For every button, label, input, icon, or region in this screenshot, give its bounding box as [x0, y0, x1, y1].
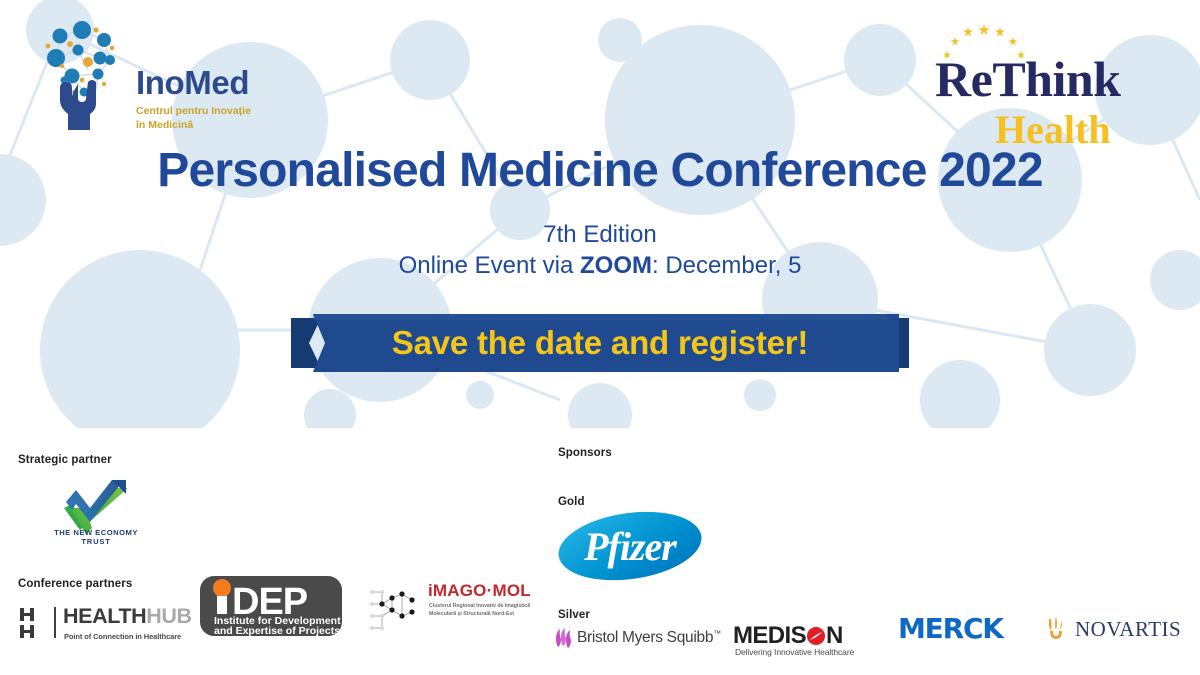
imago-mol-subtitle: Clusterul Regional Inovativ de Imagistic… [429, 603, 543, 619]
molecule-icon [368, 582, 426, 638]
inomed-wordmark: InoMed Centrul pentru Inovație în Medici… [136, 66, 311, 132]
medison-wordmark: MEDIS N [733, 622, 843, 650]
inomed-name: InoMed [136, 66, 311, 99]
novartis-logo: NOVARTIS [1043, 614, 1188, 644]
idep-logo: DEP Institute for Development and Expert… [198, 566, 346, 642]
hero-section: InoMed Centrul pentru Inovație în Medici… [0, 0, 1200, 428]
healthhub-wordmark: HEALTHHUB [63, 606, 192, 628]
pfizer-logo: Pfizer [556, 510, 704, 582]
healthhub-logo: HEALTHHUB Point of Connection in Healthc… [18, 604, 193, 646]
conference-partners-label: Conference partners [18, 578, 132, 590]
conference-poster: InoMed Centrul pentru Inovație în Medici… [0, 0, 1200, 675]
medison-logo: MEDIS N Delivering Innovative Healthcare [733, 622, 883, 660]
merck-logo: MERCK [898, 612, 1016, 642]
bms-flame-icon [553, 627, 575, 651]
merck-wordmark: MERCK [898, 612, 1016, 645]
inomed-tagline: Centrul pentru Inovație în Medicină [136, 104, 311, 132]
medison-o-icon [806, 626, 826, 646]
save-the-date-banner[interactable]: Save the date and register! [291, 312, 909, 374]
net-name-line1: THE NEW ECONOMY [30, 528, 162, 537]
novartis-flame-icon [1043, 615, 1069, 641]
medison-tagline: Delivering Innovative Healthcare [735, 647, 854, 657]
platform-name: ZOOM [580, 252, 652, 279]
sponsors-label: Sponsors [558, 447, 612, 459]
rethink-health-logo: ReThink Health [930, 22, 1155, 137]
hh-monogram-icon [18, 607, 46, 639]
bms-wordmark: Bristol Myers Squibb™ [577, 629, 721, 647]
strategic-partner-label: Strategic partner [18, 454, 112, 466]
imago-mol-logo: iMAGO·MOL Clusterul Regional Inovativ de… [368, 582, 543, 638]
silver-tier-label: Silver [558, 609, 590, 621]
novartis-wordmark: NOVARTIS [1075, 617, 1181, 642]
rethink-word: ReThink [935, 54, 1120, 104]
page-title: Personalised Medicine Conference 2022 [0, 143, 1200, 198]
imago-mol-wordmark: iMAGO·MOL [428, 582, 531, 599]
network-tree-icon [38, 18, 130, 133]
edition-label: 7th Edition [0, 221, 1200, 249]
svg-text:and Expertise of Projects: and Expertise of Projects [214, 625, 340, 637]
net-name-line2: TRUST [30, 537, 162, 546]
idep-capsule-icon: DEP Institute for Development and Expert… [200, 576, 342, 637]
pfizer-wordmark: Pfizer [556, 510, 704, 582]
event-details: Online Event via ZOOM: December, 5 [0, 252, 1200, 280]
ribbon-label: Save the date and register! [291, 312, 909, 374]
healthhub-divider [54, 607, 56, 638]
healthhub-tagline: Point of Connection in Healthcare [64, 632, 181, 641]
inomed-logo: InoMed Centrul pentru Inovație în Medici… [38, 18, 308, 136]
gold-tier-label: Gold [558, 496, 585, 508]
bristol-myers-squibb-logo: Bristol Myers Squibb™ [553, 627, 713, 653]
